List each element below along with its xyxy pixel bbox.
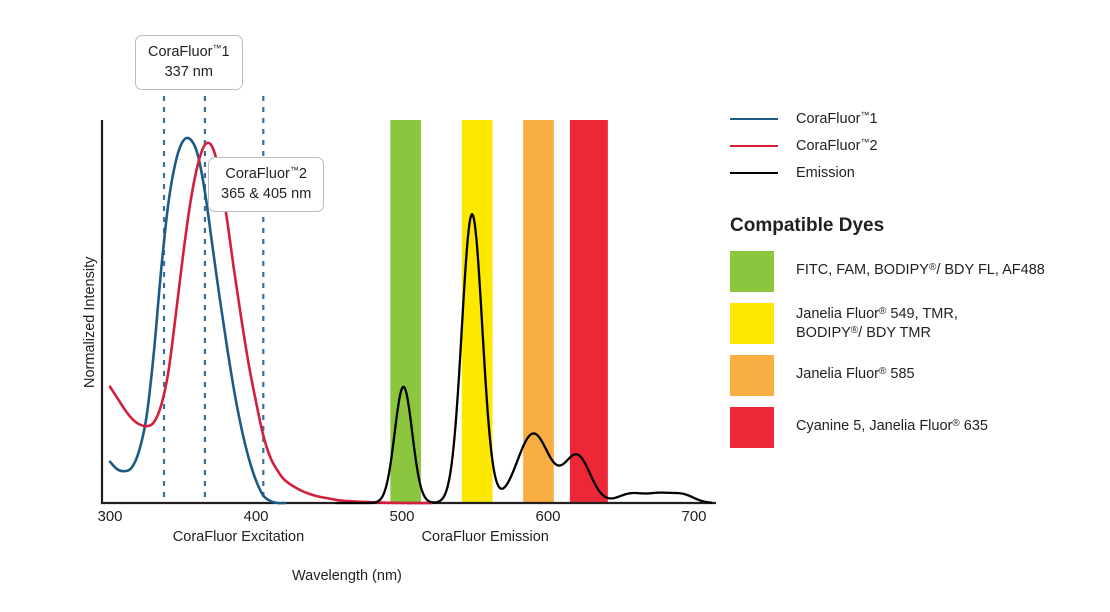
dye-label: FITC, FAM, BODIPY®/ BDY FL, AF488 xyxy=(796,251,1045,280)
dye-color-swatch xyxy=(730,303,774,344)
x-section-label-excitation: CoraFluor Excitation xyxy=(158,529,318,545)
x-section-label-emission: CoraFluor Emission xyxy=(405,529,565,545)
dye-row-1: Janelia Fluor® 549, TMR,BODIPY®/ BDY TMR xyxy=(730,303,1100,344)
callout-2-title: CoraFluor™2 xyxy=(221,164,311,184)
dye-label: Cyanine 5, Janelia Fluor® 635 xyxy=(796,407,988,436)
legend-row-0[interactable]: CoraFluor™1 xyxy=(730,105,1100,132)
yellow-band xyxy=(462,120,493,503)
callout-corafluor1: CoraFluor™1 337 nm xyxy=(135,35,243,90)
dye-row-2: Janelia Fluor® 585 xyxy=(730,355,1100,396)
callout-1-value: 337 nm xyxy=(148,62,230,82)
dye-row-3: Cyanine 5, Janelia Fluor® 635 xyxy=(730,407,1100,448)
x-tick-500: 500 xyxy=(372,508,432,525)
legend-label: CoraFluor™1 xyxy=(796,110,878,127)
legend-label: CoraFluor™2 xyxy=(796,137,878,154)
series-legend: CoraFluor™1CoraFluor™2Emission xyxy=(730,105,1100,186)
legend-label: Emission xyxy=(796,165,855,181)
y-axis-title: Normalized Intensity xyxy=(82,257,98,388)
x-axis-title: Wavelength (nm) xyxy=(292,568,402,584)
legend-line-swatch xyxy=(730,172,778,174)
dye-color-swatch xyxy=(730,407,774,448)
callout-2-value: 365 & 405 nm xyxy=(221,184,311,204)
x-tick-400: 400 xyxy=(226,508,286,525)
legend-row-2[interactable]: Emission xyxy=(730,159,1100,186)
red-band xyxy=(570,120,608,503)
dye-bands-group xyxy=(390,120,608,503)
compatible-dyes-title: Compatible Dyes xyxy=(730,215,1100,237)
dye-label: Janelia Fluor® 585 xyxy=(796,355,915,384)
dye-color-swatch xyxy=(730,355,774,396)
green-band xyxy=(390,120,421,503)
chart-root: CoraFluor™1 337 nm CoraFluor™2 365 & 405… xyxy=(0,0,1110,612)
dye-row-0: FITC, FAM, BODIPY®/ BDY FL, AF488 xyxy=(730,251,1100,292)
legend-line-swatch xyxy=(730,145,778,147)
dye-color-swatch xyxy=(730,251,774,292)
x-tick-300: 300 xyxy=(80,508,140,525)
x-tick-700: 700 xyxy=(664,508,724,525)
legend-row-1[interactable]: CoraFluor™2 xyxy=(730,132,1100,159)
dye-label: Janelia Fluor® 549, TMR,BODIPY®/ BDY TMR xyxy=(796,303,958,343)
orange-band xyxy=(523,120,554,503)
compatible-dyes-list: FITC, FAM, BODIPY®/ BDY FL, AF488Janelia… xyxy=(730,251,1100,448)
callout-corafluor2: CoraFluor™2 365 & 405 nm xyxy=(208,157,324,212)
legend-line-swatch xyxy=(730,118,778,120)
x-tick-600: 600 xyxy=(518,508,578,525)
right-panel: CoraFluor™1CoraFluor™2Emission Compatibl… xyxy=(730,105,1100,459)
callout-1-title: CoraFluor™1 xyxy=(148,42,230,62)
